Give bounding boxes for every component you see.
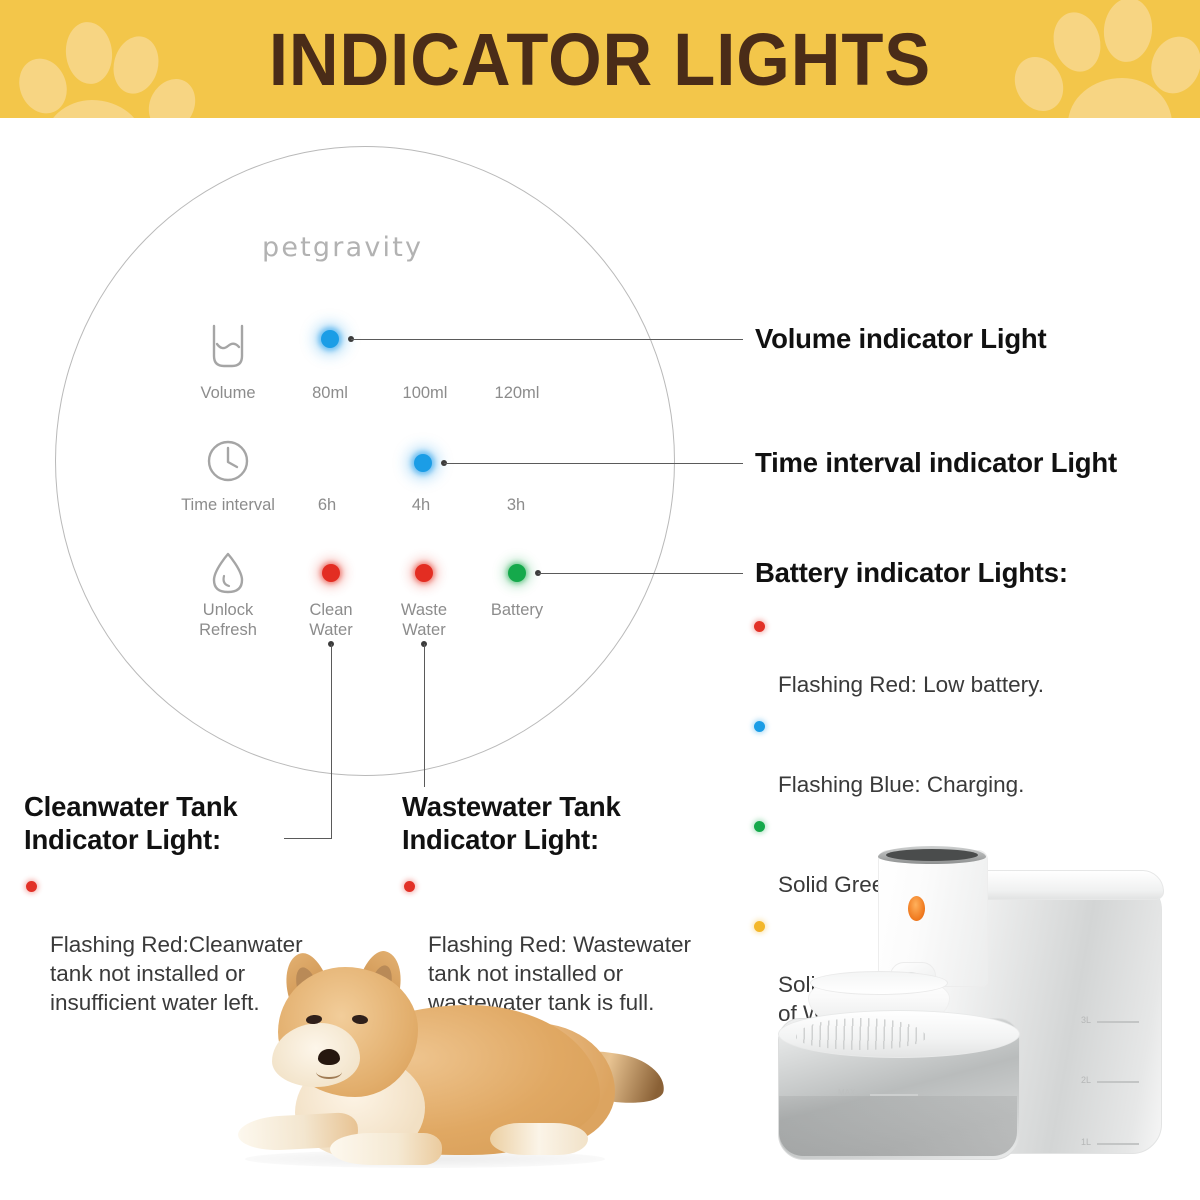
header-banner: INDICATOR LIGHTS bbox=[0, 0, 1200, 118]
leader-line-volume bbox=[351, 339, 743, 340]
clock-icon bbox=[204, 436, 252, 491]
page-title: INDICATOR LIGHTS bbox=[42, 0, 1158, 118]
list-item-text: Flashing Blue: Charging. bbox=[778, 772, 1024, 797]
tank-mark-label-1l: 1L bbox=[1081, 1137, 1091, 1147]
callout-title-battery: Battery indicator Lights: bbox=[755, 556, 1185, 589]
callout-title-time-interval: Time interval indicator Light bbox=[755, 446, 1195, 479]
water-drop-icon bbox=[204, 548, 252, 605]
product-base-grill bbox=[796, 1018, 926, 1050]
panel-label-volume: Volume bbox=[170, 383, 286, 403]
tank-mark-label-2l: 2L bbox=[1081, 1075, 1091, 1085]
list-item: Flashing Red: Low battery. bbox=[752, 612, 1192, 699]
panel-label-3h: 3h bbox=[461, 495, 571, 515]
leader-line-waste-water-vertical bbox=[424, 644, 425, 787]
led-waste-water bbox=[415, 564, 433, 582]
shiba-inu-dog-photo bbox=[200, 945, 660, 1195]
panel-label-120ml: 120ml bbox=[459, 383, 575, 403]
led-battery bbox=[508, 564, 526, 582]
panel-label-time-interval: Time interval bbox=[170, 495, 286, 515]
tank-mark-2l bbox=[1097, 1081, 1139, 1083]
water-cup-icon bbox=[204, 322, 252, 377]
callout-title-volume: Volume indicator Light bbox=[755, 322, 1185, 355]
pet-water-fountain-photo: 3L 2L 1L MAX bbox=[760, 838, 1190, 1188]
status-dot-blue bbox=[754, 721, 765, 732]
status-dot-red bbox=[26, 881, 37, 892]
status-dot-red bbox=[404, 881, 415, 892]
panel-label-battery: Battery bbox=[459, 600, 575, 620]
product-base-water-level bbox=[779, 1096, 1017, 1156]
led-volume-80ml bbox=[321, 330, 339, 348]
dog-mouth bbox=[316, 1065, 342, 1079]
base-mark-max bbox=[870, 1094, 918, 1096]
callout-title-cleanwater: Cleanwater Tank Indicator Light: bbox=[24, 790, 354, 856]
led-time-4h bbox=[414, 454, 432, 472]
tank-mark-1l bbox=[1097, 1143, 1139, 1145]
panel-label-4h: 4h bbox=[366, 495, 476, 515]
leader-line-battery bbox=[538, 573, 743, 574]
dog-back-paw bbox=[490, 1123, 588, 1155]
status-dot-red bbox=[754, 621, 765, 632]
tank-mark-3l bbox=[1097, 1021, 1139, 1023]
led-clean-water bbox=[322, 564, 340, 582]
tank-mark-label-3l: 3L bbox=[1081, 1015, 1091, 1025]
product-tower-opening bbox=[886, 849, 978, 861]
dog-nose bbox=[318, 1049, 340, 1065]
product-bowl-rim bbox=[810, 971, 948, 995]
status-dot-green bbox=[754, 821, 765, 832]
list-item: Flashing Blue: Charging. bbox=[752, 712, 1192, 799]
panel-label-unlock-refresh: Unlock Refresh bbox=[170, 600, 286, 640]
brand-logo: petgravity bbox=[262, 232, 423, 263]
callout-title-wastewater: Wastewater Tank Indicator Light: bbox=[402, 790, 742, 856]
base-mark-label-max: MAX bbox=[838, 1088, 855, 1097]
product-power-button bbox=[908, 896, 925, 921]
infographic-page: INDICATOR LIGHTS petgravity Volume 80ml … bbox=[0, 0, 1200, 1200]
leader-line-time-interval bbox=[444, 463, 743, 464]
list-item-text: Flashing Red: Low battery. bbox=[778, 672, 1044, 697]
dog-front-paw-right bbox=[330, 1133, 442, 1165]
